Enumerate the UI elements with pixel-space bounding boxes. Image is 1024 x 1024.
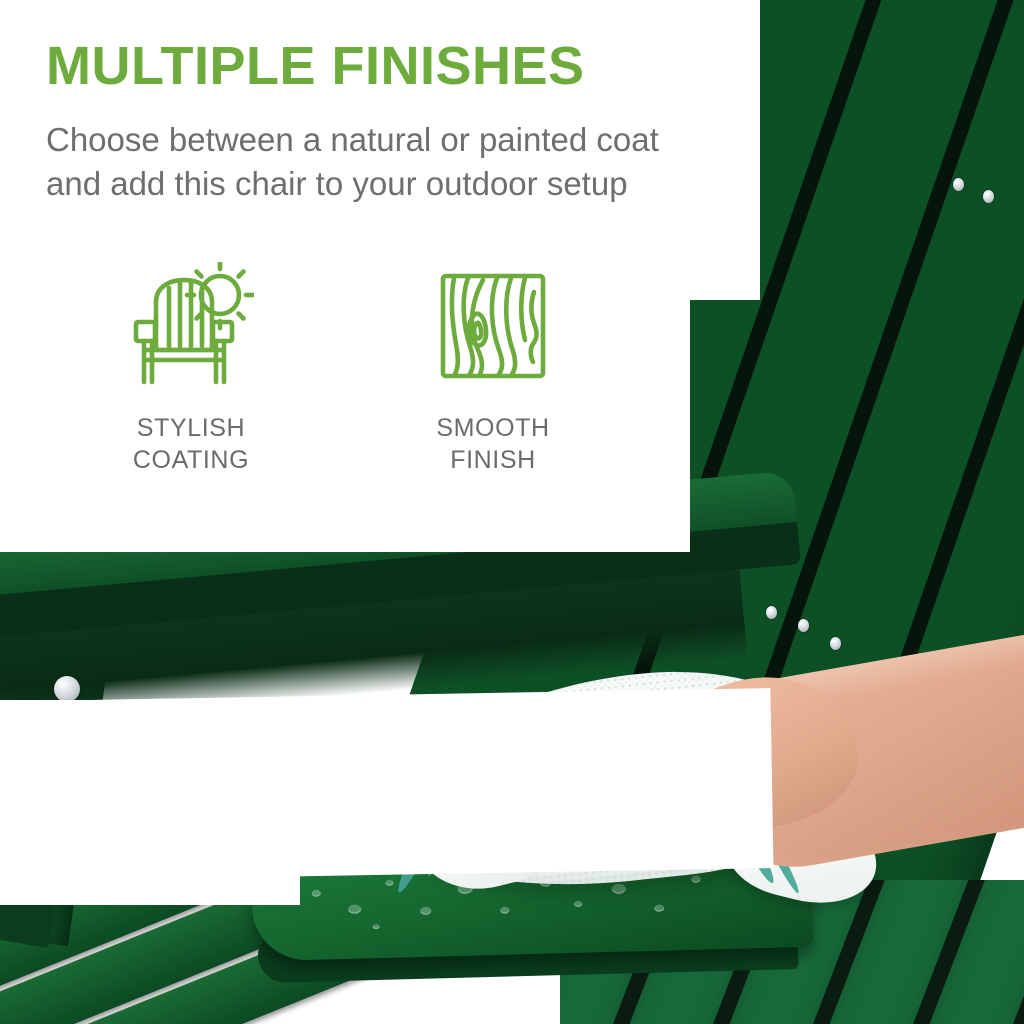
feature-label-line-1: STYLISH — [96, 412, 286, 444]
feature-list: STYLISH COATING — [96, 262, 588, 476]
wood-grain-icon — [398, 262, 588, 390]
screw-icon — [798, 619, 809, 632]
feature-label-line-2: FINISH — [398, 444, 588, 476]
feature-label: STYLISH COATING — [96, 412, 286, 476]
page-title: MULTIPLE FINISHES — [46, 38, 585, 95]
screw-icon — [953, 178, 964, 191]
adirondack-chair-sun-icon — [96, 262, 286, 390]
background-mask — [90, 688, 773, 880]
subtitle-line-2: and add this chair to your outdoor setup — [46, 162, 659, 206]
screw-icon — [983, 190, 994, 203]
screw-icon — [830, 637, 841, 650]
subtitle-line-1: Choose between a natural or painted coat — [46, 118, 659, 162]
feature-label-line-1: SMOOTH — [398, 412, 588, 444]
product-feature-image: MULTIPLE FINISHES Choose between a natur… — [0, 0, 1024, 1024]
feature-smooth-finish: SMOOTH FINISH — [398, 262, 588, 476]
feature-label: SMOOTH FINISH — [398, 412, 588, 476]
feature-label-line-2: COATING — [96, 444, 286, 476]
screw-icon — [766, 606, 777, 619]
page-subtitle: Choose between a natural or painted coat… — [46, 118, 659, 205]
feature-stylish-coating: STYLISH COATING — [96, 262, 286, 476]
screw-icon — [54, 676, 80, 702]
